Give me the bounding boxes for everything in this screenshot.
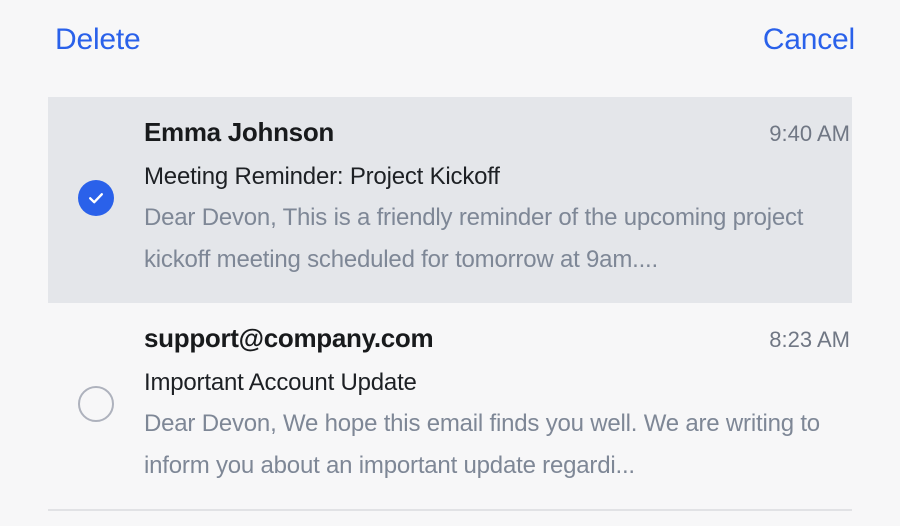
email-list: Emma Johnson 9:40 AM Meeting Reminder: P… xyxy=(0,97,900,511)
selection-checkbox-cell[interactable] xyxy=(48,321,144,487)
email-timestamp: 9:40 AM xyxy=(769,117,850,151)
email-sender: support@company.com xyxy=(144,321,433,355)
email-timestamp: 8:23 AM xyxy=(769,323,850,357)
email-list-item[interactable]: Emma Johnson 9:40 AM Meeting Reminder: P… xyxy=(48,97,852,303)
list-divider xyxy=(48,509,852,511)
delete-button[interactable]: Delete xyxy=(55,22,141,58)
selection-checkbox-cell[interactable] xyxy=(48,115,144,281)
email-subject: Meeting Reminder: Project Kickoff xyxy=(144,161,850,193)
email-header-line: support@company.com 8:23 AM xyxy=(144,321,850,357)
email-preview: Dear Devon, We hope this email finds you… xyxy=(144,403,824,487)
cancel-button[interactable]: Cancel xyxy=(763,22,855,58)
email-content: Emma Johnson 9:40 AM Meeting Reminder: P… xyxy=(144,115,852,281)
selection-toolbar: Delete Cancel xyxy=(0,0,900,97)
email-list-item[interactable]: support@company.com 8:23 AM Important Ac… xyxy=(48,303,852,509)
check-circle-filled-icon[interactable] xyxy=(78,180,114,216)
email-content: support@company.com 8:23 AM Important Ac… xyxy=(144,321,852,487)
email-sender: Emma Johnson xyxy=(144,115,334,149)
email-subject: Important Account Update xyxy=(144,367,850,399)
circle-outline-icon[interactable] xyxy=(78,386,114,422)
email-preview: Dear Devon, This is a friendly reminder … xyxy=(144,197,824,281)
email-header-line: Emma Johnson 9:40 AM xyxy=(144,115,850,151)
